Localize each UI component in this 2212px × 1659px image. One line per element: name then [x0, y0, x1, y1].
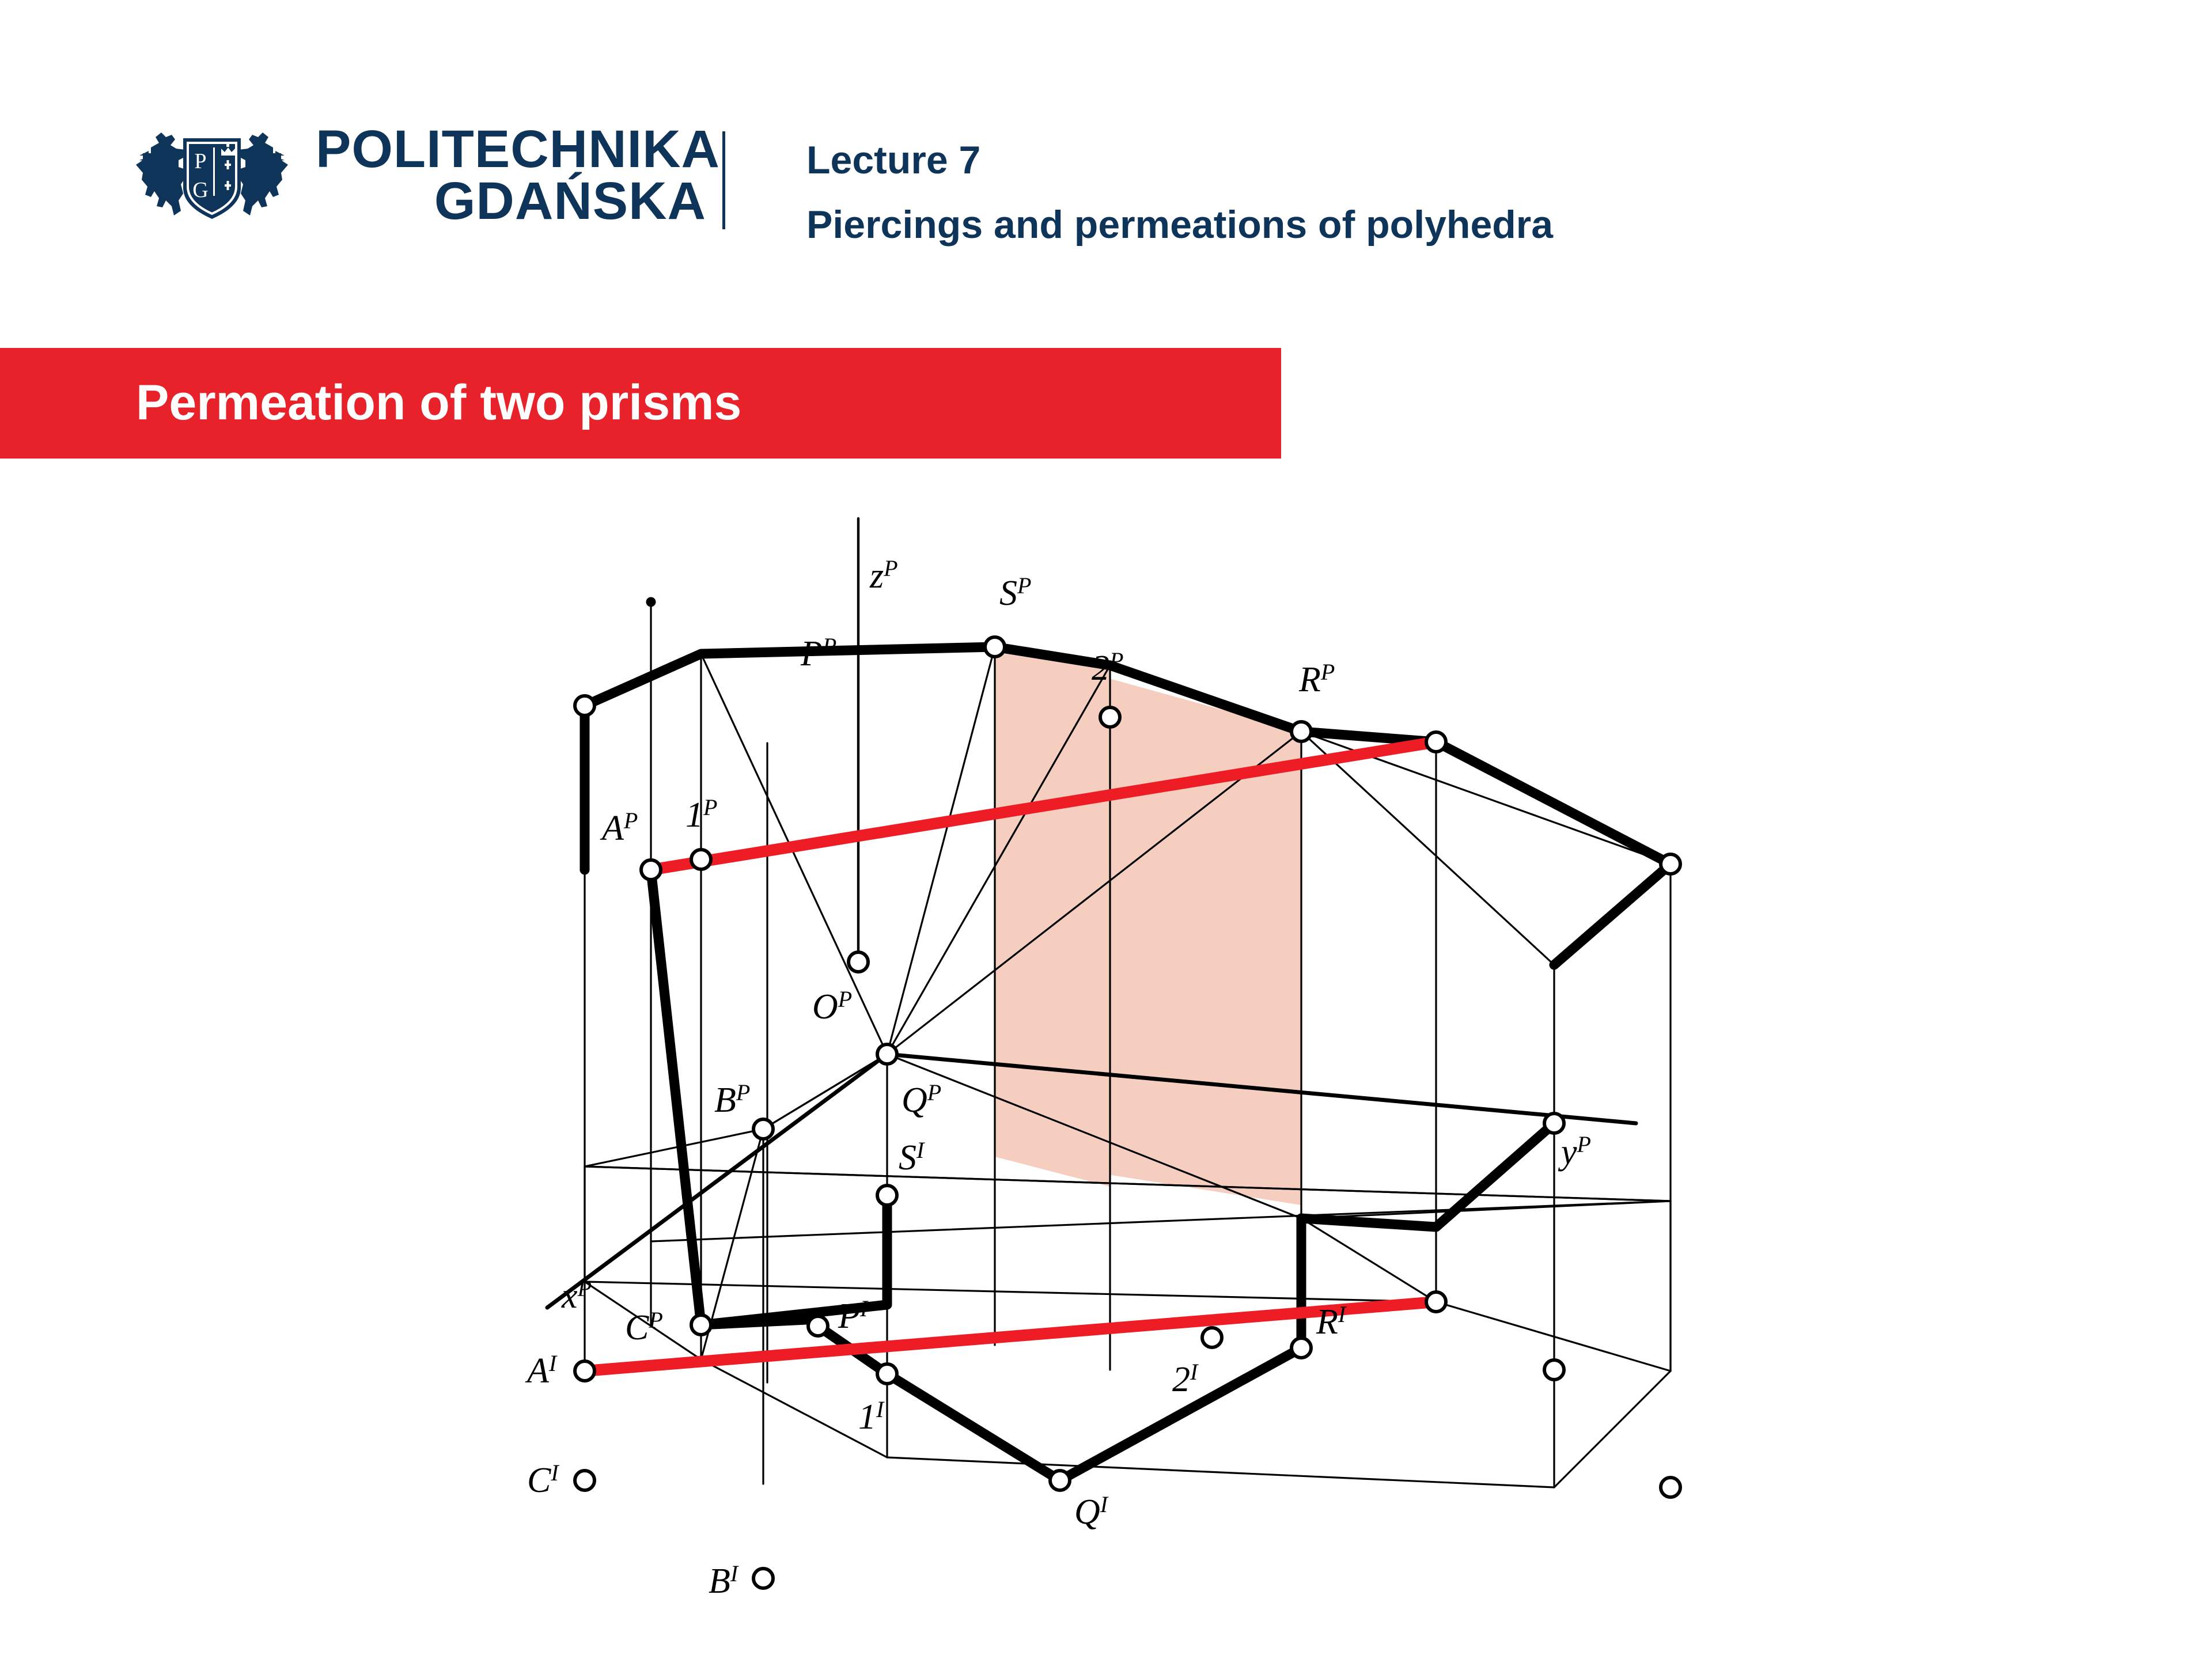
- vertex-C-P: [691, 1315, 711, 1335]
- vertex-P-P: [575, 696, 594, 715]
- vertex-S-I: [877, 1185, 897, 1205]
- label-y-axis: yP: [1558, 1131, 1591, 1172]
- label-2-I: 2I: [1172, 1359, 1199, 1399]
- header-divider: [722, 131, 725, 229]
- label-S-I: SI: [899, 1137, 925, 1177]
- vertex-upper-lower-right: [1544, 1113, 1564, 1133]
- label-C-P: CP: [625, 1307, 663, 1347]
- label-Q-I: QI: [1074, 1491, 1109, 1532]
- slide-header: P G POLITECHNIKA GDAŃSKA Lecture 7 Pierc…: [0, 0, 2212, 323]
- vertex-A-I: [575, 1361, 594, 1381]
- label-P-P: PP: [800, 633, 836, 673]
- slide-title-band: Permeation of two prisms: [0, 348, 1281, 459]
- lecture-number: Lecture 7: [806, 128, 2074, 192]
- lecture-heading: Lecture 7 Piercings and permeations of p…: [806, 128, 2074, 237]
- vertex-Q-P: [877, 1044, 897, 1064]
- label-B-I: BI: [709, 1560, 739, 1601]
- label-z-axis: zP: [869, 555, 898, 596]
- vertex-S-P: [985, 637, 1005, 657]
- vertex-A-P: [641, 860, 661, 880]
- shaded-section-face-2: [995, 647, 1301, 1205]
- label-R-P: RP: [1298, 659, 1335, 699]
- prism-permeation-figure: zP xP yP SP PP RP 2P 1P AP QP OP BP CP S…: [0, 501, 2212, 1659]
- university-logo: P G POLITECHNIKA GDAŃSKA: [126, 120, 719, 229]
- vertex-R-P: [1291, 722, 1311, 741]
- vertex-1-I: [877, 1364, 897, 1384]
- vertex-2-P: [1100, 707, 1120, 727]
- wordmark-line-2: GDAŃSKA: [316, 175, 719, 227]
- label-A-P: AP: [600, 808, 638, 848]
- vertex-upper-far-right: [1661, 854, 1680, 874]
- pg-crest-icon: P G: [126, 120, 298, 224]
- vertex-B-P: [753, 1119, 773, 1139]
- wordmark-line-1: POLITECHNIKA: [316, 123, 719, 175]
- vertex-lower-right-2: [1544, 1360, 1564, 1380]
- label-R-I: RI: [1316, 1301, 1347, 1342]
- vertex-Q-I: [1050, 1471, 1070, 1490]
- label-1-I: 1I: [858, 1396, 885, 1437]
- label-S-P: SP: [999, 573, 1031, 613]
- label-A-I: AI: [525, 1350, 558, 1391]
- label-x-axis: xP: [561, 1275, 592, 1316]
- technical-drawing: zP xP yP SP PP RP 2P 1P AP QP OP BP CP S…: [0, 501, 2212, 1659]
- vertex-upper-right: [1426, 732, 1446, 752]
- vertex-lower-right-1: [1426, 1292, 1446, 1312]
- label-1-P: 1P: [685, 794, 717, 835]
- vertex-2-I: [1202, 1328, 1222, 1347]
- vertex-lower-right-3: [1661, 1478, 1680, 1497]
- university-wordmark: POLITECHNIKA GDAŃSKA: [316, 123, 719, 225]
- label-P-I: PI: [838, 1296, 869, 1336]
- vertex-R-I: [1291, 1338, 1311, 1358]
- slide-title: Permeation of two prisms: [136, 371, 741, 434]
- label-O-P: OP: [812, 986, 852, 1027]
- label-C-I: CI: [527, 1460, 559, 1500]
- permeation-line-lower: [585, 1302, 1436, 1371]
- vertex-O-P: [849, 952, 868, 972]
- svg-text:P: P: [194, 149, 206, 173]
- vertex-P-I: [808, 1316, 828, 1336]
- vertex-B-I: [753, 1569, 773, 1588]
- svg-text:G: G: [192, 178, 208, 202]
- vertex-1-P: [691, 850, 711, 869]
- vertex-C-I: [575, 1471, 594, 1490]
- lecture-topic: Piercings and permeations of polyhedra: [806, 192, 2074, 257]
- label-B-P: BP: [714, 1080, 750, 1120]
- label-Q-P: QP: [902, 1080, 941, 1120]
